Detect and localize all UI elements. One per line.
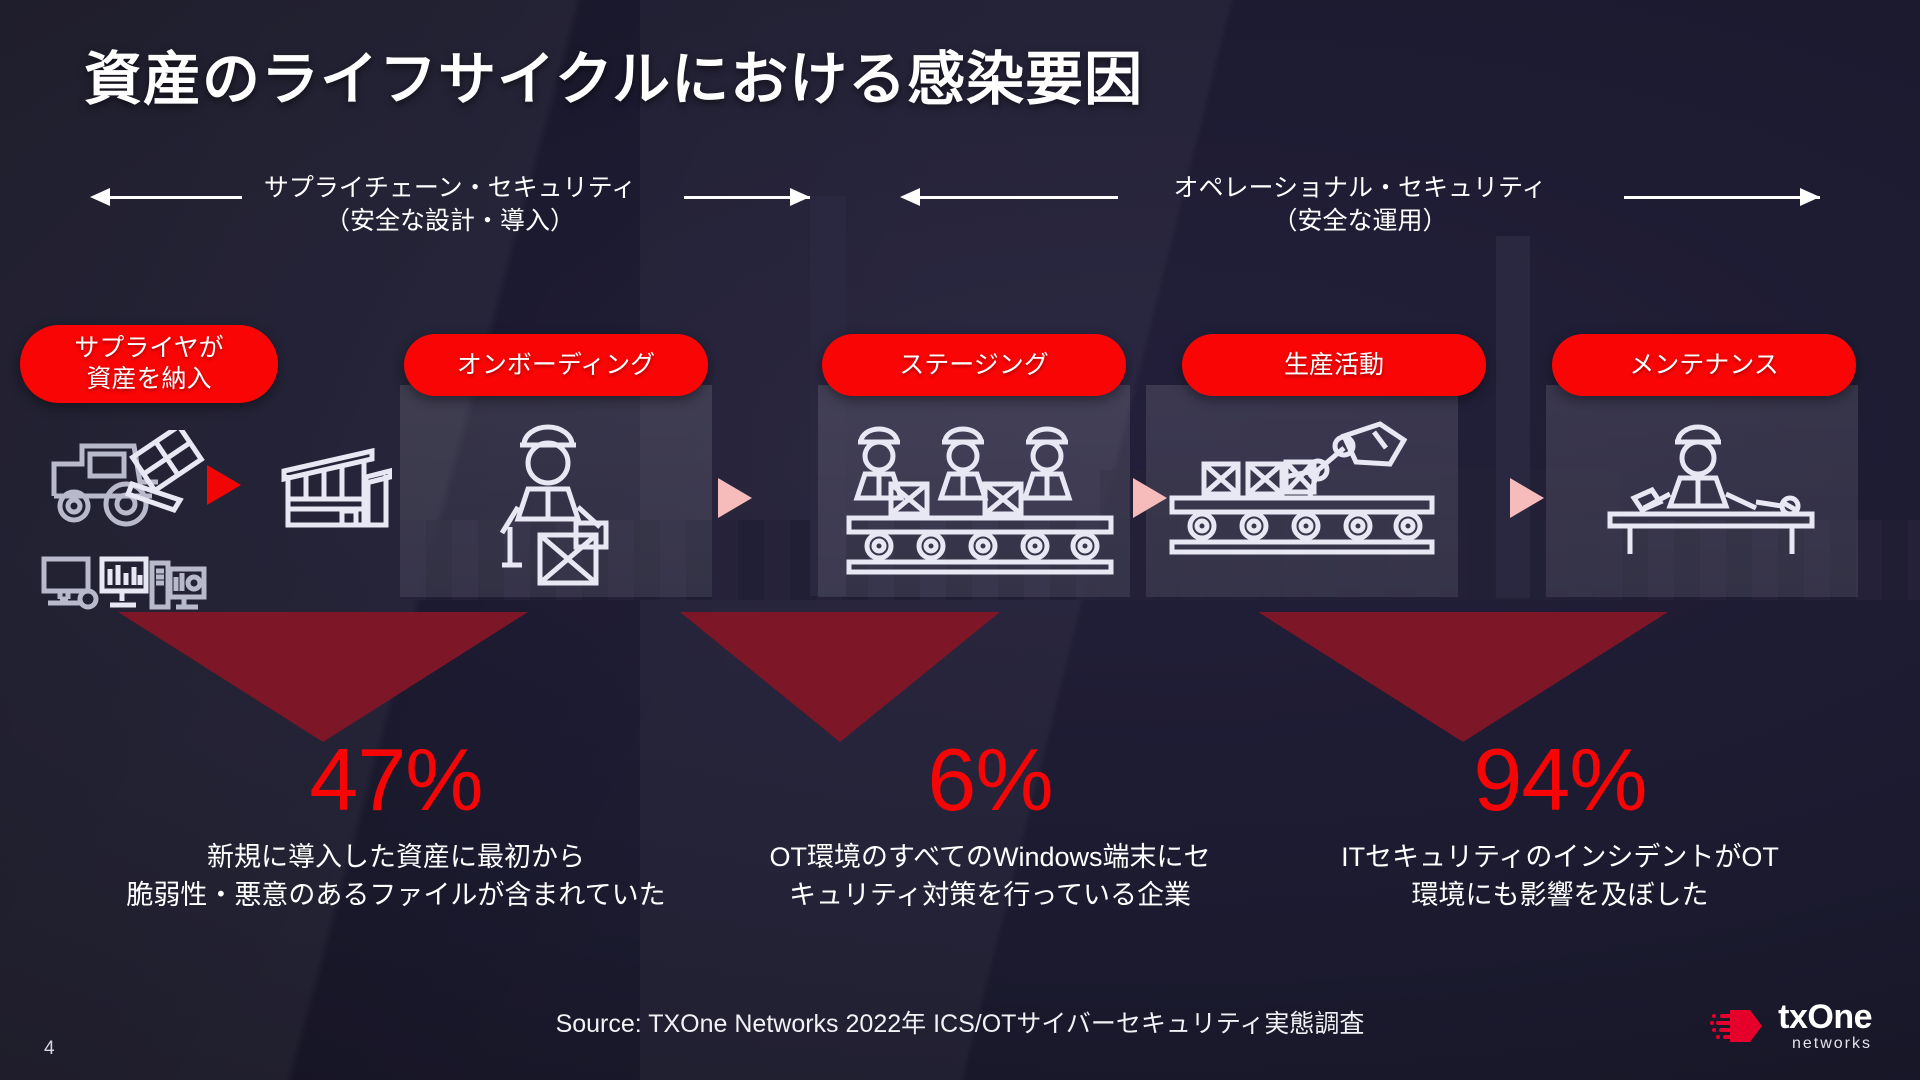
page-number: 4: [44, 1038, 55, 1060]
stat-description: 新規に導入した資産に最初から 脆弱性・悪意のあるファイルが含まれていた: [86, 838, 706, 915]
delivery-truck-icon: [48, 430, 208, 530]
monitor-server-icon: [152, 563, 204, 607]
stage-label-line2: 資産を納入: [74, 364, 223, 395]
band-label-line2: （安全な運用）: [900, 205, 1820, 238]
stat-description-line1: ITセキュリティのインシデントがOT: [1300, 838, 1820, 876]
txone-logo: txOne networks: [1710, 1000, 1872, 1052]
stat-block-2: 6% OT環境のすべてのWindows端末にセ キュリティ対策を行っている企業: [700, 736, 1280, 915]
stage-label-supplier-delivery[interactable]: サプライヤが 資産を納入: [20, 325, 278, 403]
flow-arrow-icon-3: [1133, 478, 1167, 518]
workers-conveyor-icon: [845, 420, 1115, 580]
arrow-head-right-icon: [790, 188, 810, 206]
flow-arrow-icon-1: [207, 465, 241, 505]
band-label-line2: （安全な設計・導入）: [90, 205, 810, 238]
maintenance-worker-icon: [1600, 420, 1820, 560]
source-note: Source: TXOne Networks 2022年 ICS/OTサイバーセ…: [0, 1004, 1920, 1040]
stat-description: OT環境のすべてのWindows端末にセ キュリティ対策を行っている企業: [700, 838, 1280, 915]
band-operational-security: オペレーショナル・セキュリティ （安全な運用）: [900, 180, 1820, 266]
arrow-head-right-icon: [1800, 188, 1820, 206]
stat-value: 94%: [1300, 736, 1820, 824]
stage-label-staging[interactable]: ステージング: [822, 334, 1126, 396]
band-supply-chain-security: サプライチェーン・セキュリティ （安全な設計・導入）: [90, 180, 810, 266]
worker-3: [1025, 429, 1069, 498]
txone-logo-mark-icon: [1710, 1004, 1766, 1048]
funnel-arrow-2: [680, 612, 1000, 742]
stat-description-line2: 環境にも影響を及ぼした: [1300, 876, 1820, 914]
stat-block-3: 94% ITセキュリティのインシデントがOT 環境にも影響を及ぼした: [1300, 736, 1820, 915]
stage-label-line1: サプライヤが: [74, 333, 223, 364]
txone-logo-name: txOne: [1778, 1000, 1872, 1034]
stat-description-line1: OT環境のすべてのWindows端末にセ: [700, 838, 1280, 876]
monitor-gear-icon: [44, 559, 96, 607]
funnel-arrow-1: [118, 612, 528, 742]
monitor-icons-group: [40, 555, 208, 613]
page-title: 資産のライフサイクルにおける感染要因: [84, 32, 1143, 116]
band-label-line1: オペレーショナル・セキュリティ: [1173, 174, 1546, 202]
band-label-operational: オペレーショナル・セキュリティ （安全な運用）: [900, 172, 1820, 238]
stat-block-1: 47% 新規に導入した資産に最初から 脆弱性・悪意のあるファイルが含まれていた: [86, 736, 706, 915]
stat-value: 47%: [86, 736, 706, 824]
flow-arrow-icon-4: [1510, 478, 1544, 518]
arrow-line-right: [1624, 196, 1820, 199]
stage-label-maintenance[interactable]: メンテナンス: [1552, 334, 1856, 396]
monitor-chart-icon: [102, 559, 146, 605]
txone-logo-sub: networks: [1778, 1036, 1872, 1052]
stat-description: ITセキュリティのインシデントがOT 環境にも影響を及ぼした: [1300, 838, 1820, 915]
stage-label-production[interactable]: 生産活動: [1182, 334, 1486, 396]
funnel-arrow-3: [1258, 612, 1668, 742]
flow-arrow-icon-2: [718, 478, 752, 518]
txone-wordmark: txOne networks: [1778, 1000, 1872, 1052]
robot-arm-conveyor-icon: [1168, 418, 1436, 578]
chimney-right-icon: [1496, 236, 1530, 598]
stat-description-line1: 新規に導入した資産に最初から: [86, 838, 706, 876]
stat-description-line2: 脆弱性・悪意のあるファイルが含まれていた: [86, 876, 706, 914]
band-label-line1: サプライチェーン・セキュリティ: [264, 174, 636, 202]
warehouse-building-icon: [280, 445, 392, 529]
stat-value: 6%: [700, 736, 1280, 824]
worker-2: [941, 429, 985, 498]
stat-description-line2: キュリティ対策を行っている企業: [700, 876, 1280, 914]
worker-unboxing-icon: [480, 415, 640, 587]
stage-label-onboarding[interactable]: オンボーディング: [404, 334, 708, 396]
band-label-supply-chain: サプライチェーン・セキュリティ （安全な設計・導入）: [90, 172, 810, 238]
